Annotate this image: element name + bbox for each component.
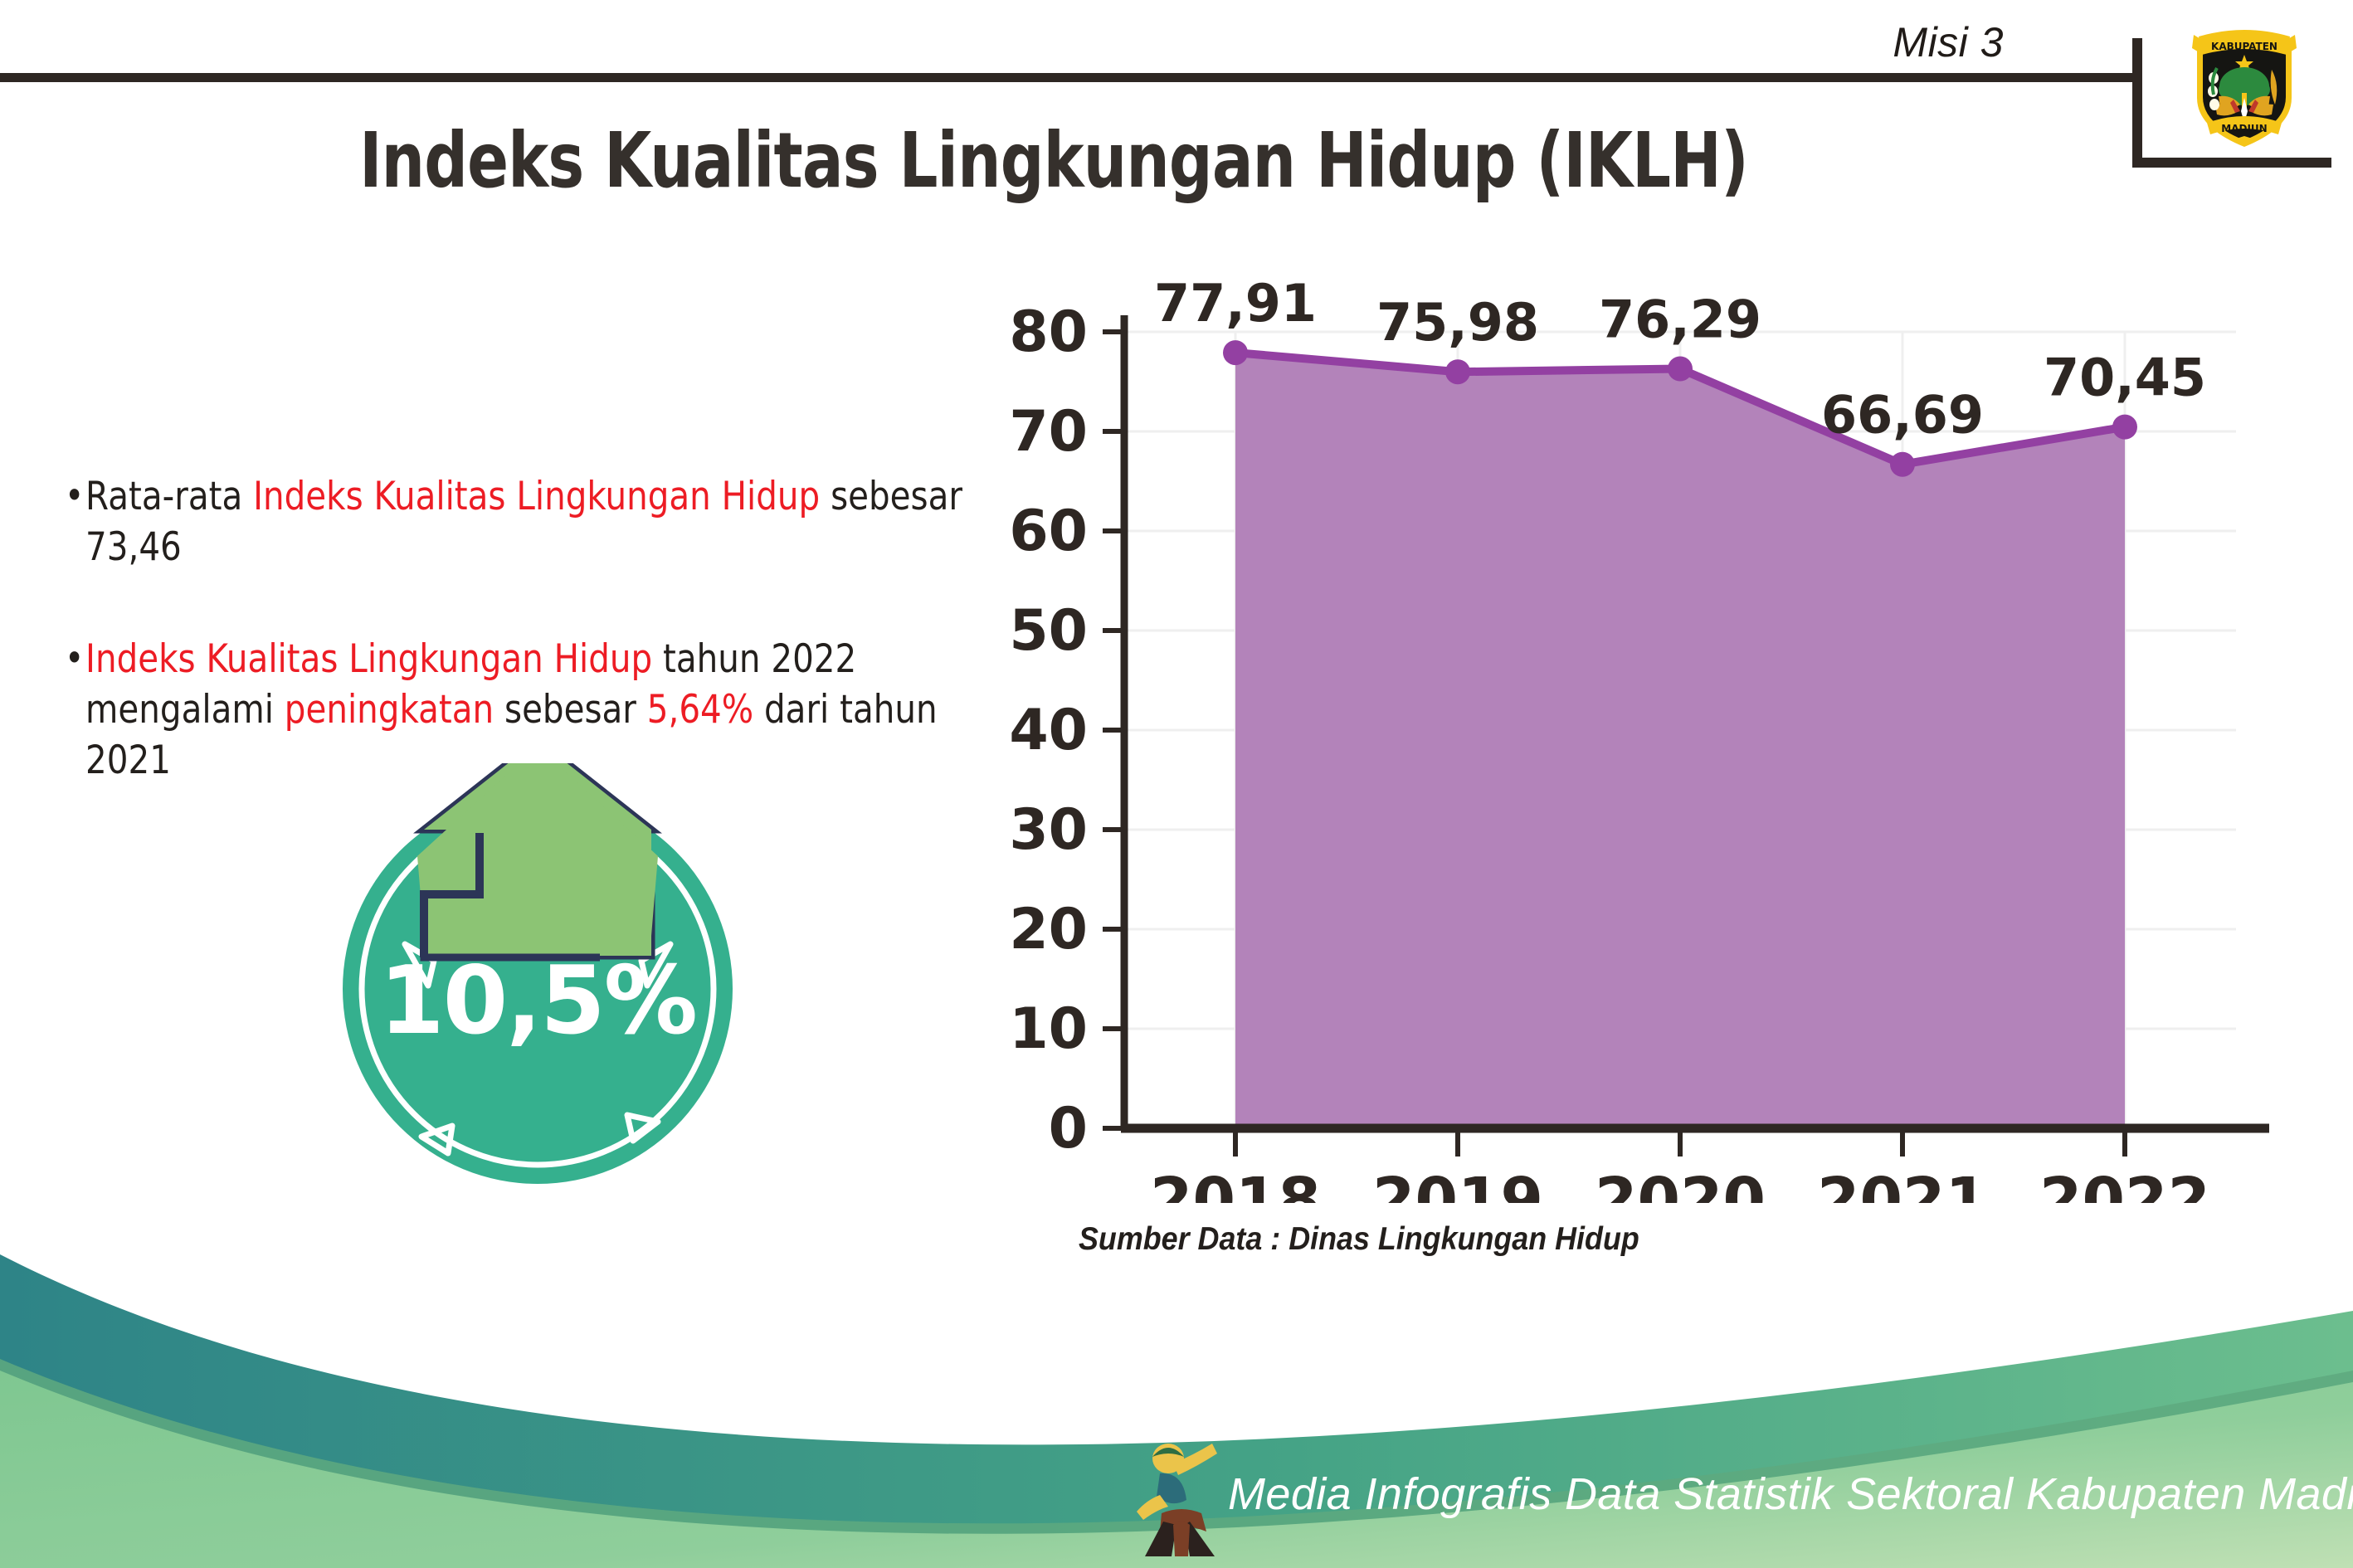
pencak-silat-mascot-icon [1135,1435,1230,1558]
y-axis-tick-label: 50 [1009,598,1088,664]
misi-label: Misi 3 [1893,18,2004,66]
svg-text:MADIUN: MADIUN [2221,123,2267,134]
list-item: • Rata-rata Indeks Kualitas Lingkungan H… [65,471,967,572]
x-axis-tick-label: 2018 [1150,1165,1321,1203]
bullet-segment-highlight: Indeks Kualitas Lingkungan Hidup [253,474,820,519]
y-axis-tick-label: 30 [1009,797,1088,863]
bullet-segment: Rata-rata [85,474,253,519]
x-axis-tick-label: 2022 [2039,1165,2210,1203]
data-point-marker [1890,452,1915,477]
header-bracket-vertical [2132,38,2142,168]
data-point-marker [1223,340,1248,365]
header-bracket-foot [2132,158,2331,168]
header-rule [0,73,2136,82]
y-axis-tick-label: 70 [1009,399,1088,465]
bullet-marker: • [65,634,84,684]
bullet-marker: • [65,471,84,521]
infographic-slide: Misi 3 KABUPATEN M [0,0,2353,1568]
bullet-segment: sebesar [494,687,647,733]
y-axis-tick-label: 60 [1009,499,1088,564]
y-axis-tick-label: 20 [1009,897,1088,962]
data-label: 70,45 [2044,348,2206,408]
data-label: 77,91 [1154,282,1317,334]
iklh-area-chart: 77,9175,9876,2966,6970,45010203040506070… [954,282,2282,1203]
data-label: 75,98 [1376,292,1539,353]
svg-text:KABUPATEN: KABUPATEN [2211,41,2277,52]
bullet-segment-highlight: Indeks Kualitas Lingkungan Hidup [85,636,652,682]
data-point-marker [2112,415,2137,440]
footer-label: Media Infografis Data Statistik Sektoral… [1228,1468,2353,1520]
page-title: Indeks Kualitas Lingkungan Hidup (IKLH) [211,116,1897,205]
bullet-text-1: Rata-rata Indeks Kualitas Lingkungan Hid… [85,471,967,572]
y-axis-tick-label: 0 [1049,1096,1088,1161]
bullet-segment-highlight: 5,64% [647,687,753,733]
x-axis-tick-label: 2021 [1817,1165,1988,1203]
data-point-marker [1668,357,1693,382]
x-axis-tick-label: 2019 [1372,1165,1543,1203]
y-axis-tick-label: 10 [1009,996,1088,1062]
data-point-marker [1445,359,1470,384]
data-label: 76,29 [1599,290,1761,350]
y-axis-tick-label: 80 [1009,299,1088,365]
y-axis-tick-label: 40 [1009,698,1088,763]
x-axis-tick-label: 2020 [1595,1165,1766,1203]
area-fill [1235,353,2125,1128]
bullet-segment-highlight: peningkatan [285,687,494,733]
kabupaten-madiun-logo: KABUPATEN MADIUN [2182,18,2307,151]
data-label: 66,69 [1821,385,1984,446]
growth-badge: 10,5% [326,763,749,1186]
